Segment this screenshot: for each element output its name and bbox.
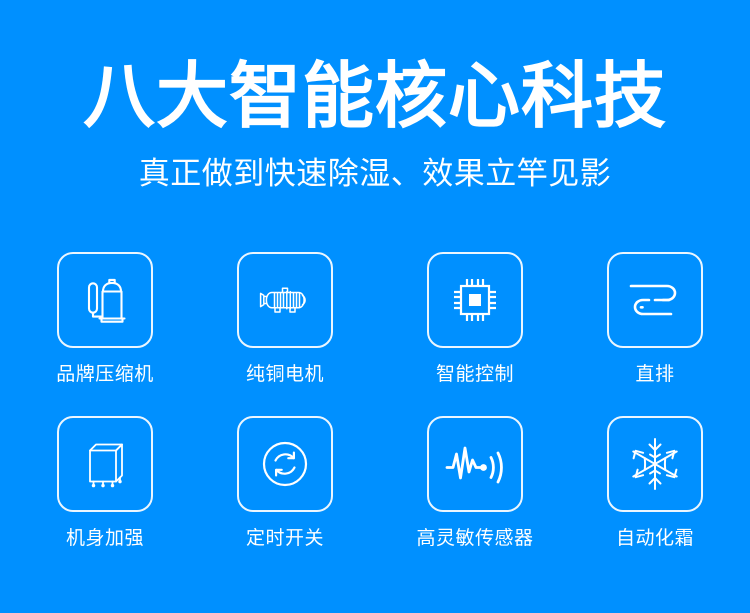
feature-label: 机身加强 [10,527,200,551]
feature-label: 自动化霜 [560,527,750,551]
feature-item-smart-control[interactable]: 智能控制 [380,252,570,387]
feature-label: 纯铜电机 [190,363,380,387]
feature-item-compressor[interactable]: 品牌压缩机 [10,252,200,387]
compressor-icon [74,269,136,331]
feature-grid: 品牌压缩机 [0,236,750,576]
feature-item-sensor[interactable]: 高灵敏传感器 [380,416,570,551]
cpu-chip-icon [446,271,504,329]
drain-pipe-icon [625,275,685,325]
feature-item-auto-defrost[interactable]: 自动化霜 [560,416,750,551]
icon-box [237,252,333,348]
timer-cycle-icon [256,435,314,493]
icon-box [57,252,153,348]
snowflake-icon [624,433,686,495]
icon-box [427,252,523,348]
promo-banner: 八大智能核心科技 真正做到快速除湿、效果立竿见影 [0,0,750,613]
feature-item-direct-drain[interactable]: 直排 [560,252,750,387]
feature-item-motor[interactable]: 纯铜电机 [190,252,380,387]
feature-label: 品牌压缩机 [10,363,200,387]
feature-label: 定时开关 [190,527,380,551]
page-subtitle: 真正做到快速除湿、效果立竿见影 [0,154,750,194]
feature-item-reinforced-body[interactable]: 机身加强 [10,416,200,551]
icon-box [57,416,153,512]
feature-item-timer-switch[interactable]: 定时开关 [190,416,380,551]
icon-box [427,416,523,512]
feature-label: 高灵敏传感器 [380,527,570,551]
motor-icon [254,269,316,331]
icon-box [237,416,333,512]
feature-label: 直排 [560,363,750,387]
page-title: 八大智能核心科技 [0,57,750,137]
sensor-waveform-icon [442,438,508,490]
feature-label: 智能控制 [380,363,570,387]
icon-box [607,252,703,348]
cabinet-body-icon [75,433,135,495]
icon-box [607,416,703,512]
